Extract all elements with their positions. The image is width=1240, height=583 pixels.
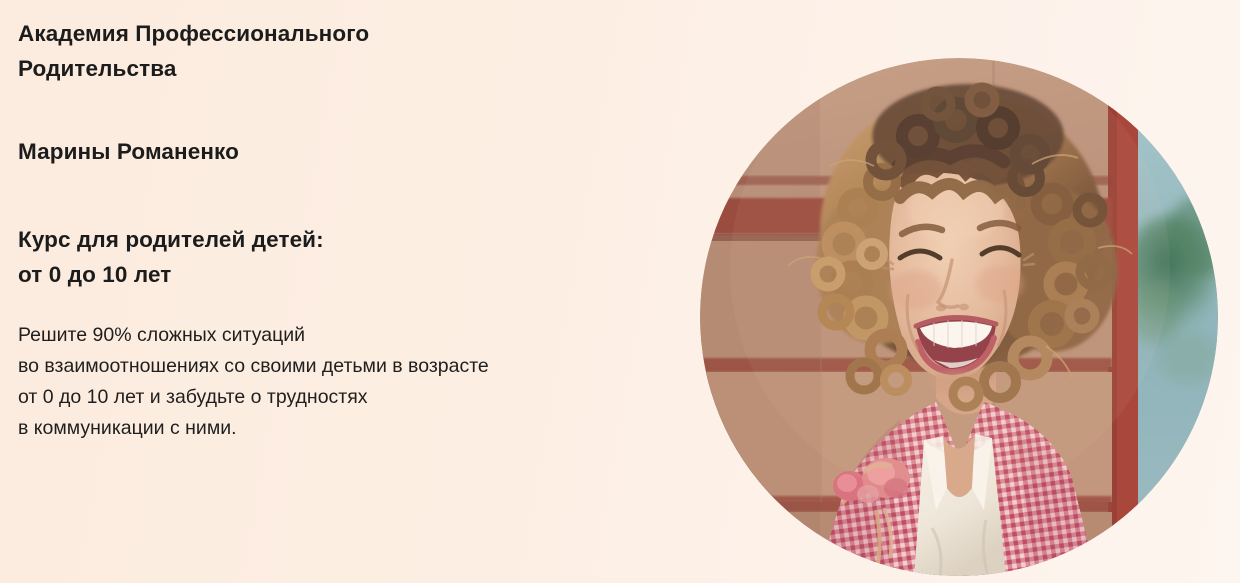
course-description: Решите 90% сложных ситуаций во взаимоотн… <box>18 320 628 444</box>
portrait-illustration <box>700 58 1218 576</box>
brand-author: Марины Романенко <box>18 134 618 169</box>
brand-title: Академия Профессионального Родительства <box>18 16 618 86</box>
course-heading: Курс для родителей детей: от 0 до 10 лет <box>18 222 618 292</box>
portrait-photo <box>700 58 1218 576</box>
copy-column: Академия Профессионального Родительства … <box>18 0 638 583</box>
promo-banner: Академия Профессионального Родительства … <box>0 0 1240 583</box>
